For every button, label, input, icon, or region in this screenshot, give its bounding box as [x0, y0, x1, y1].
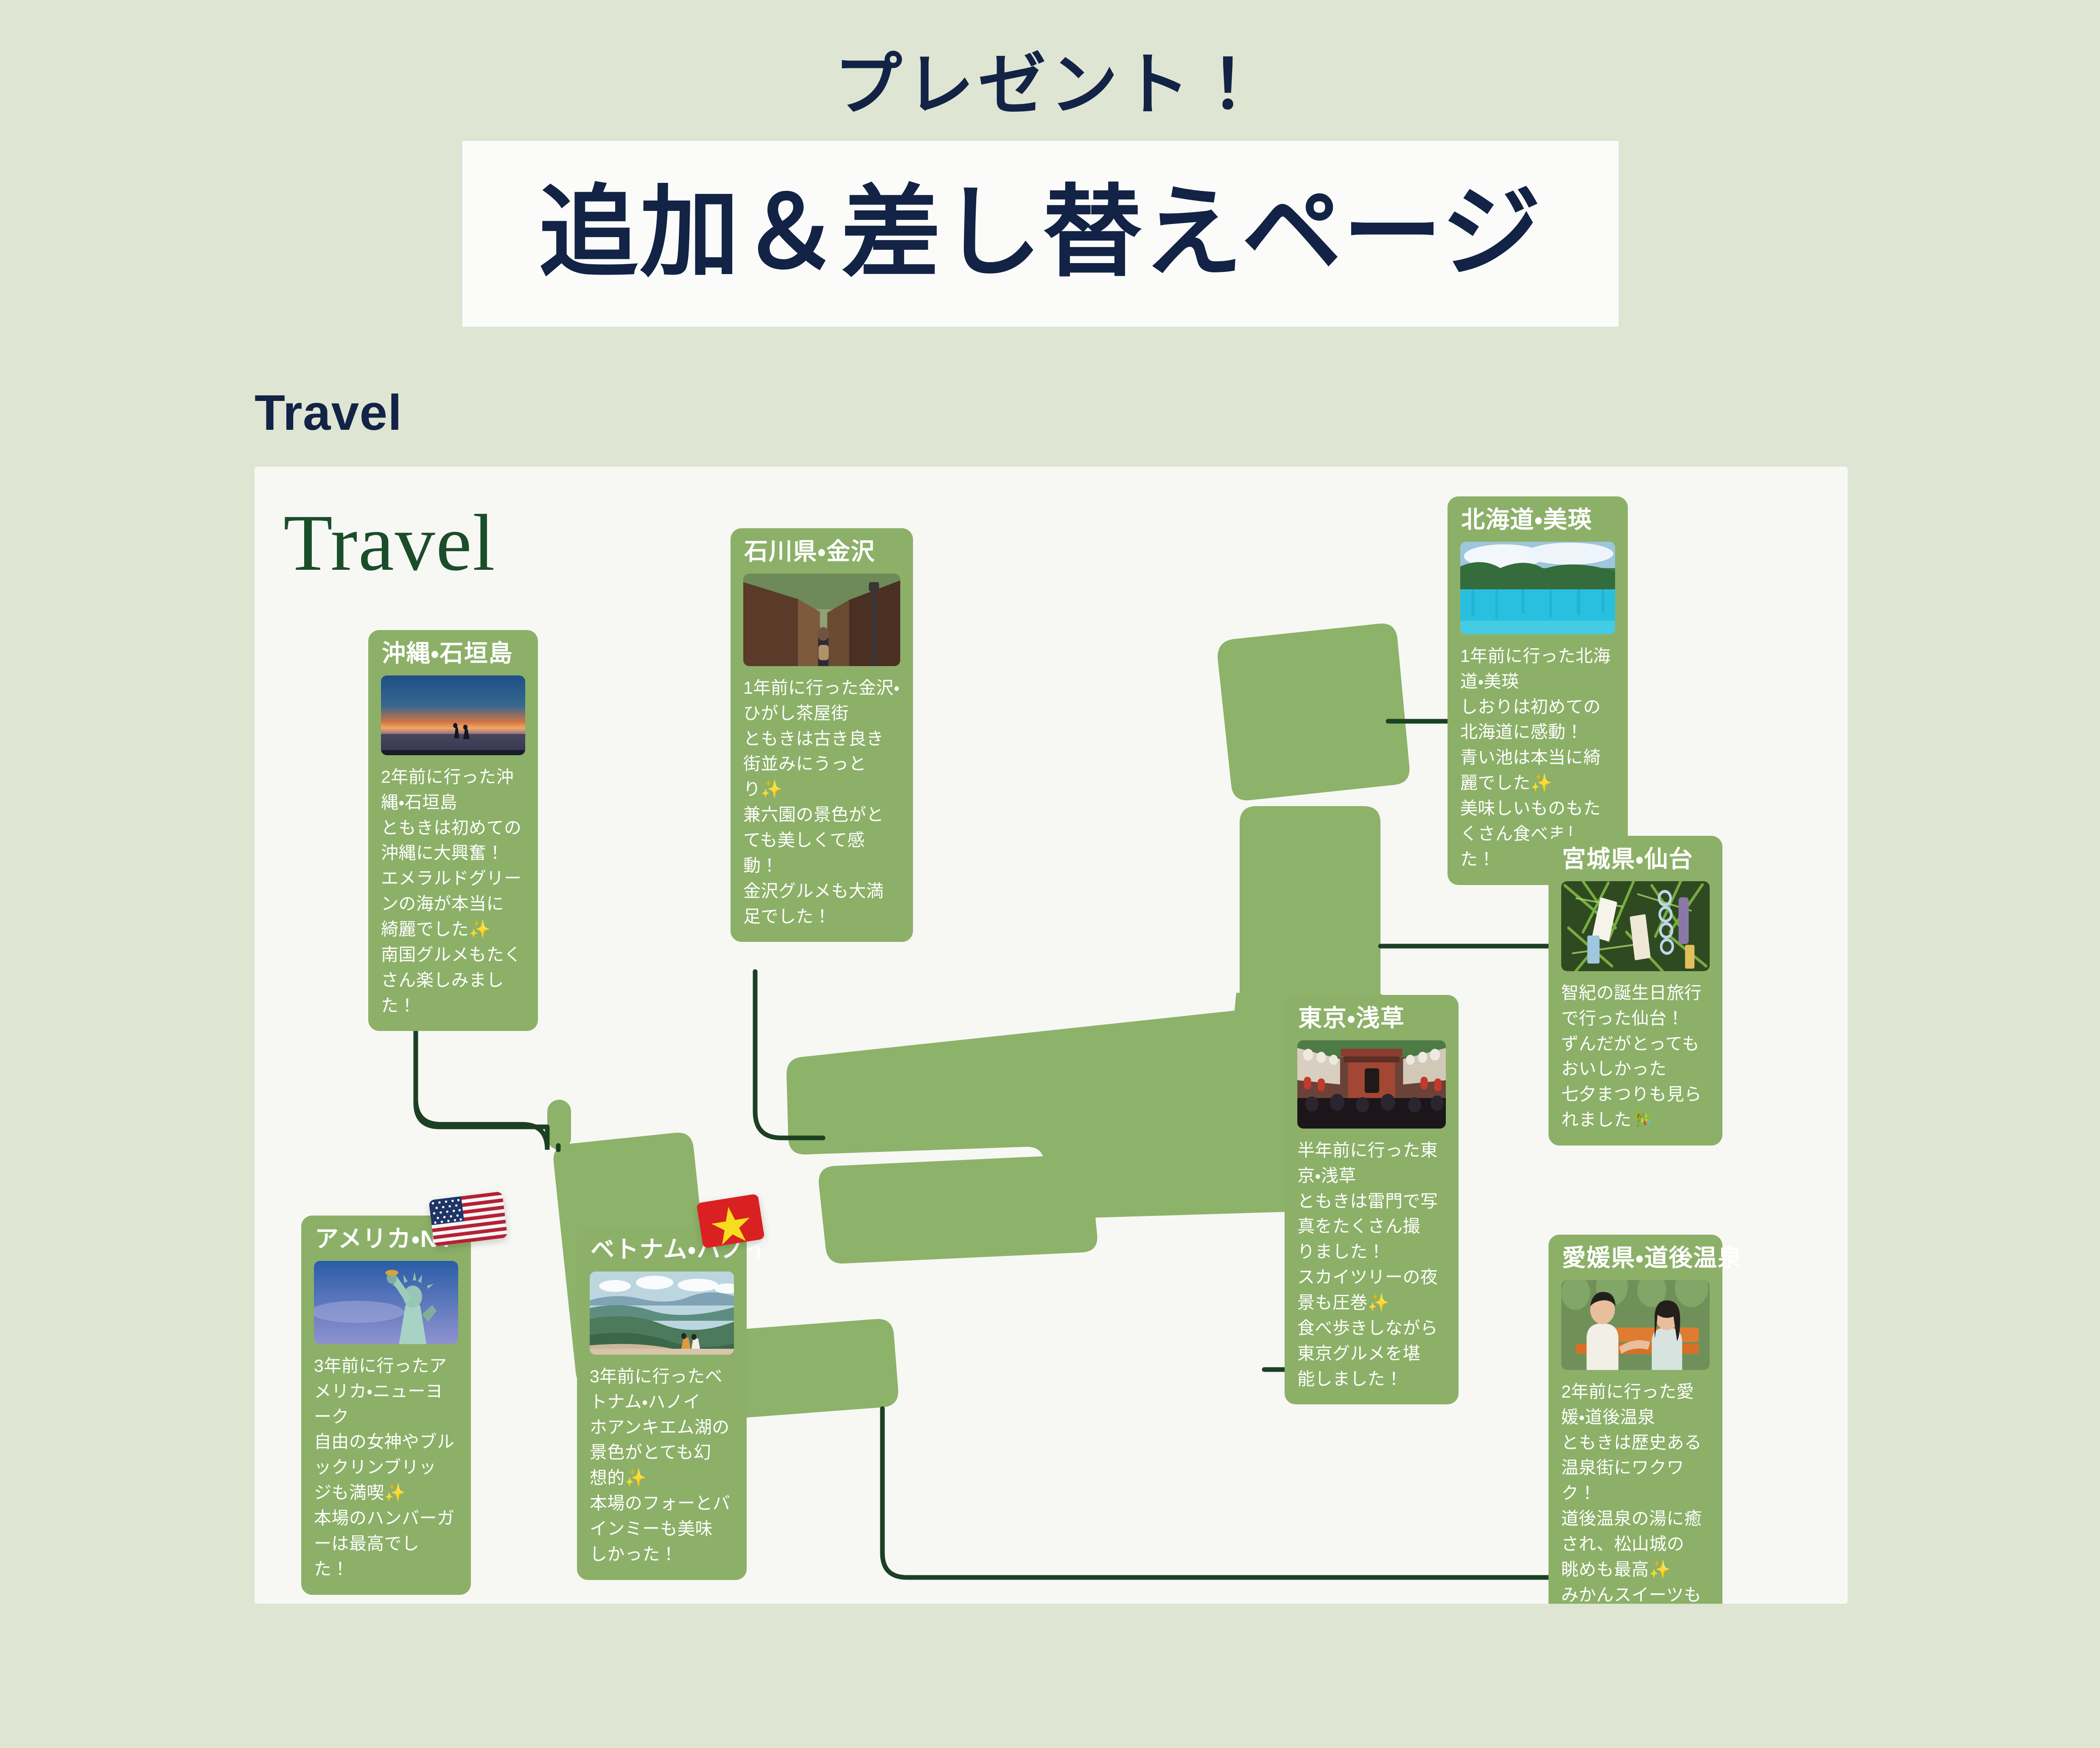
card-photo-hokkaido: [1460, 542, 1615, 634]
card-body: 智紀の誕生日旅行で行った仙台！ ずんだがとってもおいしかった 七夕まつりも見られ…: [1561, 980, 1710, 1133]
travel-card-hokkaido[interactable]: 北海道・美瑛 1年前に行った北海道・美瑛 しおりは初めての北海道に感動！ 青い池…: [1448, 496, 1628, 885]
card-title: 石川県・金沢: [744, 539, 900, 564]
card-body: 3年前に行ったアメリカ・ニューヨ ーク 自由の女神やブルックリンブリッ ジも満喫…: [314, 1353, 458, 1582]
card-photo-asakusa: [1297, 1040, 1446, 1129]
card-photo-kanazawa: [743, 574, 900, 666]
card-photo-okinawa: [381, 675, 525, 755]
card-body: 1年前に行った金沢・ひがし茶屋街 ともきは古き良き街並みにうっと り✨ 兼六園の…: [743, 675, 900, 930]
card-photo-sendai: [1561, 881, 1710, 971]
travel-card-hanoi[interactable]: ベトナム・ハノイ 3年前に行ったベトナム・ハノイ ホアンキエム湖の: [577, 1226, 747, 1580]
travel-card-kanazawa[interactable]: 石川県・金沢 1年前に行った金沢・ひがし茶屋街 ともきは古き良き街並みにうっと …: [731, 528, 913, 942]
card-title: 東京・浅草: [1298, 1006, 1446, 1031]
card-photo-newyork: [314, 1261, 458, 1344]
card-body: 2年前に行った愛媛・道後温泉 ともきは歴史ある温泉街にワクワ ク！ 道後温泉の湯…: [1561, 1379, 1710, 1604]
travel-card-newyork[interactable]: アメリカ・NY 3年前に行ったアメリカ・ニューヨ ーク 自由の: [301, 1216, 471, 1595]
card-title: 北海道・美瑛: [1461, 507, 1615, 532]
page-title: 追加＆差し替えページ: [539, 182, 1542, 282]
vietnam-flag-sticker: [696, 1193, 765, 1249]
travel-card-asakusa[interactable]: 東京・浅草: [1285, 995, 1459, 1404]
travel-card-dogo[interactable]: 愛媛県・道後温泉 2年前に行った愛媛・道後温泉 ともきは歴史ある温泉街にワクワ …: [1548, 1235, 1722, 1604]
card-title: 沖縄・石垣島: [382, 641, 525, 666]
connector-kanazawa: [755, 972, 823, 1138]
card-body: 3年前に行ったベトナム・ハノイ ホアンキエム湖の景色がとても幻 想的✨ 本場のフ…: [590, 1364, 734, 1567]
travel-card-okinawa[interactable]: 沖縄・石垣島 2年前に行った沖縄・石垣島 ともきは初めての沖: [368, 630, 538, 1031]
card-body: 2年前に行った沖縄・石垣島 ともきは初めての沖縄に大興奮！ エメラルドグリーンの…: [381, 765, 525, 1019]
us-flag-sticker: [428, 1191, 508, 1247]
card-photo-dogo: [1561, 1280, 1710, 1370]
card-photo-hanoi: [590, 1272, 734, 1355]
page-title-plate: 追加＆差し替えページ: [462, 141, 1618, 327]
travel-card-sendai[interactable]: 宮城県・仙台: [1548, 836, 1722, 1146]
page-eyebrow-present: プレゼント！: [0, 51, 2100, 119]
travel-board-panel: Travel: [255, 467, 1848, 1604]
panel-wordmark-travel: Travel: [283, 503, 496, 583]
card-title: 宮城県・仙台: [1562, 847, 1710, 872]
card-body: 半年前に行った東京・浅草 ともきは雷門で写真をたくさん撮 りました！ スカイツリ…: [1297, 1138, 1446, 1392]
card-title: 愛媛県・道後温泉: [1562, 1246, 1710, 1271]
section-label-travel: Travel: [255, 384, 402, 442]
